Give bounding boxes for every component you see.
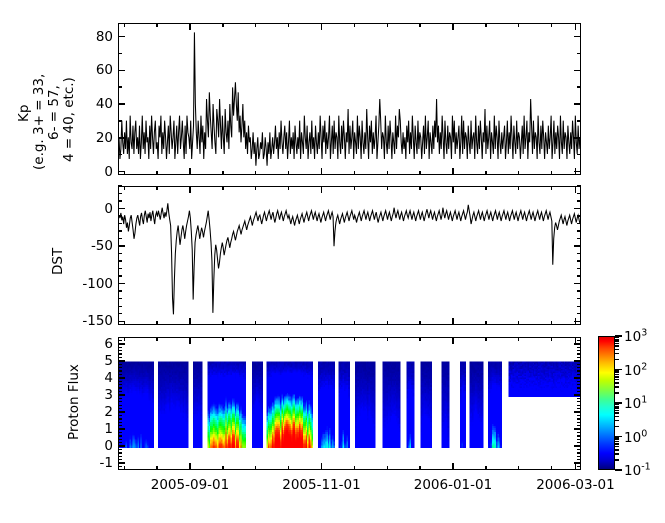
colorbar-minor-tick	[615, 340, 619, 341]
dst-y-minor-tick	[118, 230, 122, 231]
dst-y-minor-tick	[577, 223, 581, 224]
flux-y-major-tick	[118, 411, 125, 412]
flux-y-minor-tick	[577, 439, 581, 440]
colorbar-minor-tick	[615, 437, 619, 438]
dst-x-minor-tick	[156, 321, 157, 325]
flux-x-minor-tick	[387, 466, 388, 470]
flux-y-minor-tick	[118, 387, 122, 388]
colorbar-minor-tick	[615, 416, 619, 417]
kp-y-tick-label: 40	[96, 96, 113, 112]
kp-y-major-tick	[574, 70, 581, 71]
flux-x-minor-tick	[551, 337, 552, 341]
flux-y-tick-label: 3	[104, 387, 113, 403]
dst-x-minor-tick	[288, 321, 289, 325]
dst-y-minor-tick	[577, 268, 581, 269]
flux-y-minor-tick	[577, 387, 581, 388]
x-axis-tick-label: 2006-01-01	[414, 477, 492, 493]
dst-x-minor-tick	[419, 321, 420, 325]
flux-y-minor-tick	[577, 370, 581, 371]
kp-y-major-tick	[118, 103, 125, 104]
kp-axis-title: Kp (e.g. 3+ = 33, 6- = 57, 4 = 40, etc.)	[14, 22, 76, 174]
dst-axis-title: DST	[50, 248, 66, 275]
flux-y-major-tick	[574, 411, 581, 412]
flux-y-minor-tick	[118, 384, 122, 385]
colorbar-minor-tick	[615, 446, 619, 447]
dst-x-minor-tick	[354, 186, 355, 190]
dst-y-minor-tick	[118, 306, 122, 307]
colorbar-minor-tick	[615, 343, 619, 344]
kp-x-minor-tick	[156, 171, 157, 175]
dst-y-minor-tick	[577, 193, 581, 194]
kp-x-minor-tick	[124, 171, 125, 175]
colorbar-tick-label: 101	[624, 394, 647, 412]
flux-y-minor-tick	[118, 425, 122, 426]
colorbar-minor-tick	[615, 382, 619, 383]
dst-y-minor-tick	[118, 215, 122, 216]
flux-y-minor-tick	[577, 466, 581, 467]
flux-y-minor-tick	[577, 418, 581, 419]
flux-y-minor-tick	[118, 357, 122, 358]
kp-y-minor-tick	[118, 53, 122, 54]
kp-title-line-2: (e.g. 3+ = 33,	[31, 74, 47, 170]
dst-y-minor-tick	[118, 313, 122, 314]
colorbar-minor-tick	[615, 443, 619, 444]
dst-y-major-tick	[118, 245, 125, 246]
dst-x-minor-tick	[255, 186, 256, 190]
colorbar-major-tick	[615, 436, 622, 437]
dst-y-tick-label: 0	[104, 201, 113, 217]
colorbar-tick-label: 100	[624, 428, 647, 446]
colorbar-minor-tick	[615, 359, 619, 360]
dst-x-minor-tick	[387, 321, 388, 325]
flux-x-minor-tick	[156, 466, 157, 470]
colorbar-major-tick	[615, 402, 622, 403]
kp-x-major-tick	[575, 23, 576, 30]
kp-x-minor-tick	[387, 171, 388, 175]
kp-x-major-tick	[189, 168, 190, 175]
kp-x-minor-tick	[288, 171, 289, 175]
colorbar-minor-tick	[615, 379, 619, 380]
flux-x-major-tick	[575, 463, 576, 470]
kp-y-major-tick	[118, 36, 125, 37]
kp-y-tick-label: 60	[96, 62, 113, 78]
dst-y-minor-tick	[577, 215, 581, 216]
colorbar-minor-tick	[615, 386, 619, 387]
flux-y-tick-label: -1	[100, 455, 113, 471]
flux-x-major-tick	[452, 463, 453, 470]
flux-x-minor-tick	[387, 337, 388, 341]
flux-y-minor-tick	[577, 408, 581, 409]
flux-y-minor-tick	[118, 381, 122, 382]
dst-x-minor-tick	[222, 321, 223, 325]
dst-y-major-tick	[118, 283, 125, 284]
flux-y-minor-tick	[118, 340, 122, 341]
flux-y-major-tick	[118, 462, 125, 463]
kp-x-minor-tick	[485, 23, 486, 27]
flux-y-major-tick	[574, 377, 581, 378]
colorbar-minor-tick	[615, 439, 619, 440]
dst-y-minor-tick	[577, 313, 581, 314]
dst-x-minor-tick	[551, 321, 552, 325]
dst-x-major-tick	[452, 186, 453, 193]
colorbar-minor-tick	[615, 370, 619, 371]
dst-y-minor-tick	[118, 223, 122, 224]
kp-y-major-tick	[118, 70, 125, 71]
colorbar-minor-tick	[615, 459, 619, 460]
colorbar-minor-tick	[615, 374, 619, 375]
flux-y-minor-tick	[577, 384, 581, 385]
dst-y-minor-tick	[577, 290, 581, 291]
kp-y-major-tick	[574, 36, 581, 37]
dst-x-major-tick	[575, 318, 576, 325]
kp-title-line-4: 4 = 40, etc.)	[61, 77, 77, 162]
dst-x-minor-tick	[156, 186, 157, 190]
kp-x-minor-tick	[518, 23, 519, 27]
colorbar-minor-tick	[615, 372, 619, 373]
flux-x-major-tick	[189, 337, 190, 344]
kp-x-minor-tick	[551, 23, 552, 27]
dst-x-major-tick	[321, 186, 322, 193]
flux-y-minor-tick	[577, 452, 581, 453]
flux-y-minor-tick	[118, 422, 122, 423]
kp-y-tick-label: 0	[104, 164, 113, 180]
flux-y-minor-tick	[577, 364, 581, 365]
kp-y-major-tick	[574, 137, 581, 138]
dst-x-minor-tick	[518, 321, 519, 325]
flux-y-minor-tick	[577, 425, 581, 426]
flux-y-minor-tick	[577, 401, 581, 402]
dst-y-minor-tick	[577, 260, 581, 261]
kp-x-minor-tick	[485, 171, 486, 175]
colorbar-tick-label: 103	[624, 327, 647, 345]
dst-y-minor-tick	[118, 298, 122, 299]
dst-x-minor-tick	[387, 186, 388, 190]
colorbar-tick-label: 10-1	[624, 461, 651, 479]
colorbar-minor-tick	[615, 353, 619, 354]
colorbar-minor-tick	[615, 453, 619, 454]
kp-x-minor-tick	[387, 23, 388, 27]
dst-y-minor-tick	[118, 238, 122, 239]
colorbar-minor-tick	[615, 441, 619, 442]
flux-y-minor-tick	[118, 367, 122, 368]
flux-x-minor-tick	[485, 337, 486, 341]
flux-y-minor-tick	[577, 374, 581, 375]
flux-y-minor-tick	[577, 350, 581, 351]
colorbar-minor-tick	[615, 404, 619, 405]
dst-x-minor-tick	[354, 321, 355, 325]
flux-y-minor-tick	[118, 391, 122, 392]
flux-y-minor-tick	[577, 459, 581, 460]
colorbar-minor-tick	[615, 426, 619, 427]
kp-x-minor-tick	[222, 23, 223, 27]
flux-y-minor-tick	[577, 405, 581, 406]
colorbar-minor-tick	[615, 449, 619, 450]
kp-y-tick-label: 80	[96, 29, 113, 45]
colorbar-major-tick	[615, 369, 622, 370]
x-axis-tick-label: 2005-09-01	[151, 477, 229, 493]
flux-y-minor-tick	[577, 415, 581, 416]
dst-x-minor-tick	[419, 186, 420, 190]
flux-y-minor-tick	[118, 347, 122, 348]
flux-y-minor-tick	[118, 364, 122, 365]
kp-title-line-1: Kp	[16, 105, 32, 122]
flux-y-minor-tick	[577, 435, 581, 436]
kp-y-major-tick	[118, 137, 125, 138]
flux-x-minor-tick	[124, 337, 125, 341]
flux-x-minor-tick	[419, 466, 420, 470]
flux-x-minor-tick	[288, 337, 289, 341]
colorbar-gradient	[598, 336, 615, 470]
flux-x-minor-tick	[354, 337, 355, 341]
colorbar-minor-tick	[615, 339, 619, 340]
flux-y-minor-tick	[577, 340, 581, 341]
colorbar-minor-tick	[615, 406, 619, 407]
flux-y-major-tick	[118, 394, 125, 395]
dst-x-minor-tick	[485, 321, 486, 325]
dst-x-major-tick	[189, 186, 190, 193]
flux-x-minor-tick	[124, 466, 125, 470]
colorbar-minor-tick	[615, 420, 619, 421]
dst-y-major-tick	[574, 208, 581, 209]
flux-y-minor-tick	[118, 435, 122, 436]
flux-x-minor-tick	[156, 337, 157, 341]
flux-y-major-tick	[118, 428, 125, 429]
flux-x-major-tick	[321, 337, 322, 344]
colorbar-minor-tick	[615, 392, 619, 393]
kp-y-minor-tick	[577, 86, 581, 87]
flux-y-minor-tick	[577, 367, 581, 368]
flux-x-minor-tick	[255, 466, 256, 470]
colorbar-minor-tick	[615, 349, 619, 350]
flux-x-major-tick	[575, 337, 576, 344]
dst-x-major-tick	[452, 318, 453, 325]
flux-y-minor-tick	[577, 449, 581, 450]
dst-y-minor-tick	[118, 200, 122, 201]
kp-x-minor-tick	[419, 23, 420, 27]
kp-x-major-tick	[575, 168, 576, 175]
flux-y-minor-tick	[577, 353, 581, 354]
flux-x-minor-tick	[518, 466, 519, 470]
dst-y-minor-tick	[577, 298, 581, 299]
kp-y-tick-label: 20	[96, 130, 113, 146]
flux-x-minor-tick	[354, 466, 355, 470]
dst-x-major-tick	[575, 186, 576, 193]
kp-x-major-tick	[452, 23, 453, 30]
kp-x-major-tick	[452, 168, 453, 175]
flux-y-major-tick	[118, 445, 125, 446]
kp-y-minor-tick	[577, 53, 581, 54]
dst-y-minor-tick	[577, 238, 581, 239]
flux-y-minor-tick	[118, 432, 122, 433]
flux-x-major-tick	[452, 337, 453, 344]
x-axis-tick-label: 2005-11-01	[282, 477, 360, 493]
flux-y-minor-tick	[118, 456, 122, 457]
dst-y-minor-tick	[577, 185, 581, 186]
flux-y-tick-label: 2	[104, 404, 113, 420]
dst-y-minor-tick	[118, 253, 122, 254]
flux-y-minor-tick	[577, 432, 581, 433]
colorbar-minor-tick	[615, 345, 619, 346]
dst-x-minor-tick	[124, 321, 125, 325]
flux-x-minor-tick	[518, 337, 519, 341]
dst-y-minor-tick	[577, 253, 581, 254]
dst-x-minor-tick	[124, 186, 125, 190]
dst-axis-ticks	[118, 186, 581, 325]
dst-x-minor-tick	[288, 186, 289, 190]
flux-y-minor-tick	[118, 415, 122, 416]
kp-x-major-tick	[321, 168, 322, 175]
dst-y-minor-tick	[577, 200, 581, 201]
dst-y-major-tick	[118, 208, 125, 209]
kp-x-minor-tick	[419, 171, 420, 175]
flux-y-minor-tick	[118, 449, 122, 450]
flux-y-major-tick	[574, 428, 581, 429]
kp-x-minor-tick	[354, 23, 355, 27]
space-weather-figure: 020406080 Kp (e.g. 3+ = 33, 6- = 57, 4 =…	[0, 0, 665, 523]
dst-y-tick-labels: 0-50-100-150	[64, 186, 113, 325]
dst-x-minor-tick	[485, 186, 486, 190]
flux-x-major-tick	[321, 463, 322, 470]
flux-x-minor-tick	[222, 466, 223, 470]
kp-x-minor-tick	[124, 23, 125, 27]
flux-x-minor-tick	[485, 466, 486, 470]
flux-x-minor-tick	[419, 337, 420, 341]
dst-y-tick-label: -150	[82, 313, 113, 329]
dst-y-major-tick	[574, 245, 581, 246]
flux-x-minor-tick	[255, 337, 256, 341]
kp-x-minor-tick	[518, 171, 519, 175]
flux-y-minor-tick	[577, 442, 581, 443]
flux-y-minor-tick	[118, 405, 122, 406]
flux-y-minor-tick	[118, 466, 122, 467]
colorbar-minor-tick	[615, 412, 619, 413]
flux-y-minor-tick	[118, 350, 122, 351]
dst-x-minor-tick	[551, 186, 552, 190]
flux-y-minor-tick	[118, 459, 122, 460]
flux-x-minor-tick	[222, 337, 223, 341]
flux-y-minor-tick	[118, 439, 122, 440]
flux-y-major-tick	[118, 343, 125, 344]
kp-x-major-tick	[321, 23, 322, 30]
dst-y-tick-label: -50	[91, 238, 113, 254]
flux-y-minor-tick	[577, 357, 581, 358]
flux-y-major-tick	[574, 360, 581, 361]
kp-y-minor-tick	[118, 86, 122, 87]
dst-y-minor-tick	[118, 268, 122, 269]
kp-y-minor-tick	[118, 154, 122, 155]
flux-y-minor-tick	[577, 398, 581, 399]
flux-y-minor-tick	[118, 401, 122, 402]
dst-x-major-tick	[321, 318, 322, 325]
flux-y-minor-tick	[577, 381, 581, 382]
kp-y-major-tick	[574, 103, 581, 104]
dst-y-minor-tick	[118, 260, 122, 261]
dst-y-minor-tick	[577, 275, 581, 276]
proton-flux-axis-title: Proton Flux	[66, 364, 82, 440]
colorbar-tick-label: 102	[624, 361, 647, 379]
flux-y-tick-label: 0	[104, 438, 113, 454]
flux-y-tick-label: 4	[104, 370, 113, 386]
flux-y-tick-label: 1	[104, 421, 113, 437]
dst-y-minor-tick	[118, 275, 122, 276]
x-axis-tick-label: 2006-03-01	[536, 477, 614, 493]
flux-y-minor-tick	[118, 353, 122, 354]
kp-axis-ticks	[118, 23, 581, 175]
kp-x-minor-tick	[288, 23, 289, 27]
dst-x-major-tick	[189, 318, 190, 325]
kp-x-minor-tick	[222, 171, 223, 175]
kp-x-major-tick	[189, 23, 190, 30]
flux-y-minor-tick	[118, 370, 122, 371]
colorbar-minor-tick	[615, 410, 619, 411]
dst-y-minor-tick	[118, 290, 122, 291]
kp-x-minor-tick	[551, 171, 552, 175]
dst-y-tick-label: -100	[82, 276, 113, 292]
kp-y-minor-tick	[577, 120, 581, 121]
kp-x-minor-tick	[255, 23, 256, 27]
dst-x-minor-tick	[518, 186, 519, 190]
flux-x-minor-tick	[551, 466, 552, 470]
dst-y-minor-tick	[118, 185, 122, 186]
colorbar-major-tick	[615, 469, 622, 470]
flux-y-minor-tick	[577, 456, 581, 457]
colorbar-minor-tick	[615, 376, 619, 377]
colorbar-minor-tick	[615, 407, 619, 408]
dst-y-minor-tick	[118, 193, 122, 194]
kp-y-minor-tick	[577, 154, 581, 155]
flux-y-major-tick	[574, 445, 581, 446]
flux-y-tick-label: 5	[104, 353, 113, 369]
kp-x-minor-tick	[156, 23, 157, 27]
flux-y-minor-tick	[118, 408, 122, 409]
flux-y-minor-tick	[118, 374, 122, 375]
flux-y-major-tick	[118, 377, 125, 378]
flux-y-minor-tick	[118, 418, 122, 419]
flux-y-tick-label: 6	[104, 336, 113, 352]
colorbar-major-tick	[615, 335, 622, 336]
dst-y-minor-tick	[577, 230, 581, 231]
kp-title-line-3: 6- = 57,	[46, 85, 62, 140]
proton-flux-axis-ticks	[118, 337, 581, 470]
colorbar-axis: 10-1100101102103	[615, 336, 661, 470]
colorbar-minor-tick	[615, 337, 619, 338]
flux-y-minor-tick	[118, 452, 122, 453]
flux-y-minor-tick	[577, 422, 581, 423]
flux-x-minor-tick	[288, 466, 289, 470]
kp-y-minor-tick	[118, 120, 122, 121]
x-axis-tick-labels: 2005-09-012005-11-012006-01-012006-03-01	[118, 477, 581, 497]
kp-y-tick-labels: 020406080	[74, 23, 113, 175]
dst-x-minor-tick	[222, 186, 223, 190]
dst-y-major-tick	[574, 283, 581, 284]
flux-y-minor-tick	[577, 391, 581, 392]
proton-flux-y-tick-labels: -10123456	[80, 337, 113, 470]
flux-y-major-tick	[574, 394, 581, 395]
kp-x-minor-tick	[354, 171, 355, 175]
dst-x-minor-tick	[255, 321, 256, 325]
flux-x-major-tick	[189, 463, 190, 470]
flux-y-minor-tick	[118, 442, 122, 443]
kp-x-minor-tick	[255, 171, 256, 175]
flux-y-minor-tick	[577, 347, 581, 348]
flux-y-minor-tick	[118, 398, 122, 399]
flux-y-major-tick	[118, 360, 125, 361]
dst-y-minor-tick	[577, 306, 581, 307]
